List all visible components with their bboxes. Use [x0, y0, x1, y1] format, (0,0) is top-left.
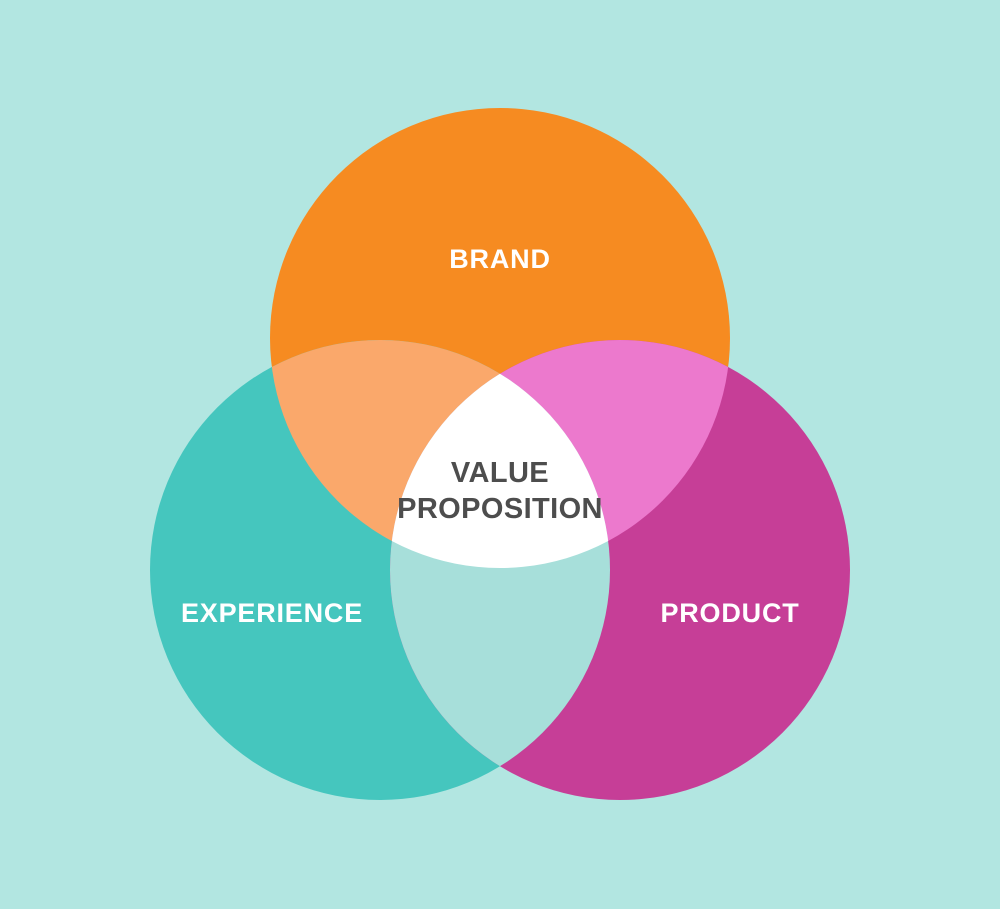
set-label-experience: EXPERIENCE [181, 598, 363, 628]
set-label-product: PRODUCT [660, 598, 799, 628]
venn-svg: BRAND EXPERIENCE PRODUCT VALUE PROPOSITI… [0, 0, 1000, 909]
center-label-line-2: PROPOSITION [397, 493, 603, 525]
set-label-brand: BRAND [449, 244, 551, 274]
center-label-line-1: VALUE [451, 457, 549, 489]
venn-diagram-canvas: BRAND EXPERIENCE PRODUCT VALUE PROPOSITI… [0, 0, 1000, 909]
